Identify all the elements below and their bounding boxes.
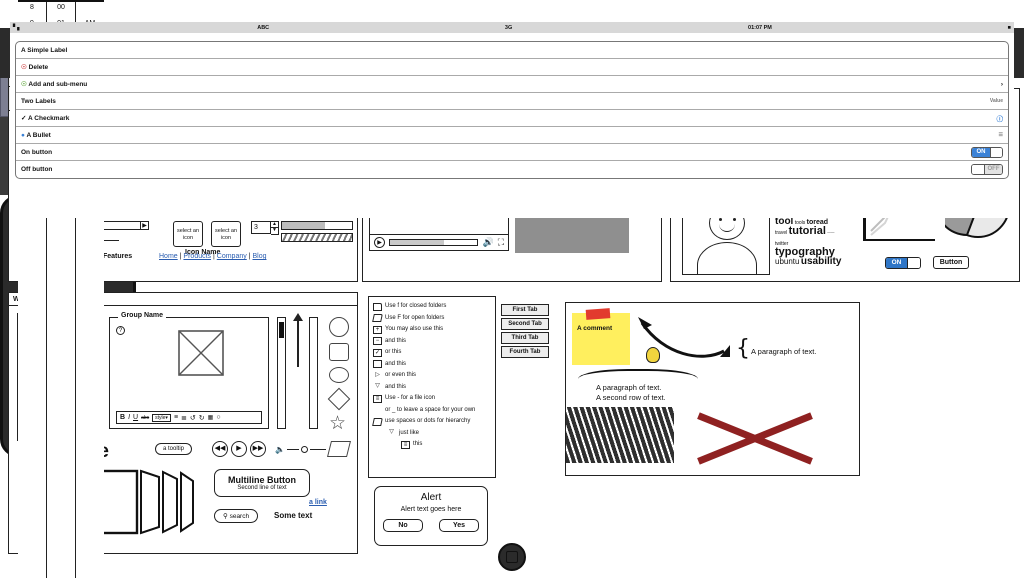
tree-row: ▽just like [373, 428, 491, 440]
number-list-icon[interactable]: ≣ [181, 414, 187, 422]
rounded-square-shape[interactable] [329, 343, 349, 361]
redo-icon[interactable]: ↻ [199, 414, 205, 422]
tooltip: a tooltip [155, 443, 192, 455]
add-circle-icon: ☉ [21, 81, 27, 88]
info-icon[interactable]: ⓘ [997, 113, 1004, 123]
shapes-palette: ☆ [329, 317, 349, 457]
underline-icon[interactable]: U [133, 414, 138, 421]
tree-list: Use f for closed folders Use F for open … [369, 297, 495, 455]
vertical-scrollbar-1[interactable] [277, 317, 286, 429]
checked-box-icon[interactable]: ✓ [373, 349, 382, 357]
parallelogram-shape[interactable] [327, 441, 351, 457]
alert-no-button[interactable]: No [383, 519, 423, 532]
battery-icon: ■ [1008, 25, 1011, 31]
fullscreen-icon[interactable]: ⛶ [498, 237, 504, 248]
folder-open-icon[interactable] [372, 418, 383, 426]
right-brace-icon: { [736, 321, 750, 377]
multiline-button[interactable]: Multiline Button Second line of text [214, 469, 310, 497]
volume-slider[interactable]: 🔈 [275, 445, 326, 454]
tree-row: ▽and this [373, 382, 491, 394]
clock-label: 01:07 PM [748, 25, 772, 31]
folder-closed-icon[interactable] [373, 303, 382, 311]
icon-selector-2[interactable]: select an icon [211, 221, 241, 247]
folder-open-icon[interactable] [372, 314, 383, 322]
tree-row: or _ to leave a space for your own [373, 405, 491, 417]
phone-row-checkmark[interactable]: ✓ A Checkmark ⓘ [16, 110, 1008, 127]
scroll-right-icon[interactable]: ▶ [140, 222, 148, 229]
triangle-down-icon[interactable]: ▽ [387, 429, 396, 437]
word-usability: usability [801, 256, 842, 267]
speaker-icon: 🔈 [275, 445, 285, 454]
navlink-sep: | [213, 253, 215, 260]
brace-right-text: A paragraph of text. [751, 347, 816, 356]
phone-status-bar: ▘▖ ABC 3G 01:07 PM ■ [10, 22, 1014, 33]
play-icon[interactable]: ▶ [231, 441, 247, 457]
tree-row: use spaces or dots for hierarchy [373, 416, 491, 428]
checkmark-icon: ✓ [21, 115, 26, 122]
alert-message: Alert text goes here [375, 506, 487, 513]
media-progress[interactable] [389, 239, 478, 246]
toggle-off[interactable]: OFF [971, 164, 1003, 175]
home-button[interactable] [498, 543, 526, 571]
progress-bar [281, 221, 353, 230]
circle-shape[interactable] [329, 317, 349, 337]
file-icon[interactable]: ≡ [373, 395, 382, 403]
tree-panel: Use f for closed folders Use F for open … [368, 296, 496, 478]
media-buttons: ◀◀ ▶ ▶▶ [212, 441, 266, 457]
tree-row: and this [373, 359, 491, 371]
toggle-on[interactable]: ON [971, 147, 1003, 158]
alert-yes-button[interactable]: Yes [439, 519, 479, 532]
play-icon[interactable]: ▶ [374, 237, 385, 248]
tree-row: ✓or this [373, 347, 491, 359]
scrollbar-thumb[interactable] [279, 322, 284, 338]
tree-row: ▷or even this [373, 370, 491, 382]
tree-row: Use f for closed folders [373, 301, 491, 313]
multiline-button-line2: Second line of text [223, 485, 301, 491]
stepper-value[interactable]: 3 [251, 221, 271, 234]
stepper-down-icon[interactable]: ▼ [271, 228, 279, 235]
empty-box-icon[interactable] [373, 360, 382, 368]
tree-row: ≡Use - for a file icon [373, 393, 491, 405]
tree-row: −and this [373, 336, 491, 348]
scribble-redaction [566, 407, 674, 463]
image-x-placeholder [178, 330, 224, 376]
phone-screen: ▘▖ ABC 3G 01:07 PM ■ A Simple Label ☉ De… [10, 22, 1014, 218]
vertical-scrollbar-2[interactable] [309, 317, 318, 429]
bottom-brace-icon [578, 369, 698, 379]
red-tag [586, 308, 611, 320]
delete-circle-icon: ☉ [21, 64, 27, 71]
sticky-note[interactable]: A comment [572, 313, 630, 365]
alert-title: Alert [375, 492, 487, 503]
strikethrough-icon[interactable]: abc [141, 415, 149, 421]
panel-button[interactable]: Button [933, 256, 969, 269]
media-controls: ▶ 🔊 ⛶ [370, 234, 508, 250]
group-name: Group Name [118, 312, 166, 319]
vertical-tabs: First Tab Second Tab Third Tab Fourth Ta… [501, 304, 549, 360]
toggle-knob[interactable] [907, 258, 920, 268]
word-travel: travel [775, 230, 787, 236]
alert-dialog: Alert Alert text goes here No Yes [374, 486, 488, 546]
phone-row-off-button[interactable]: Off button OFF [16, 161, 1008, 178]
minus-box-icon[interactable]: − [373, 337, 382, 345]
lines-icon[interactable]: ☰ [999, 132, 1003, 138]
toggle-switch[interactable]: ON [885, 257, 921, 269]
chevron-right-icon: › [1001, 81, 1003, 88]
icon-selector-1[interactable]: select an icon [173, 221, 203, 247]
brace-bottom-text: A paragraph of text. A second row of tex… [596, 383, 666, 403]
navlink-home[interactable]: Home [159, 253, 178, 260]
word-ubuntu: ubuntu [775, 257, 799, 266]
footer-nav: Home | Products | Company | Blog [159, 253, 267, 260]
forward-icon[interactable]: ▶▶ [250, 441, 266, 457]
diamond-shape[interactable] [328, 388, 351, 411]
image-icon[interactable]: ▦ [208, 414, 214, 421]
breadcrumb-current: Features [103, 253, 132, 260]
curved-arrow-icon [636, 311, 736, 371]
group-box: Group Name ? B I U abc style▾ ≡ ≣ ↺ ↻ ▦ … [109, 317, 269, 429]
question-mark-circle-icon[interactable]: ? [116, 326, 125, 335]
signal-icon: ▘▖ [13, 25, 21, 31]
phone-row-add-submenu[interactable]: ☉ Add and sub-menu › [16, 76, 1008, 93]
phone-row-simple-label[interactable]: A Simple Label [16, 42, 1008, 59]
phone-row-two-labels[interactable]: Two Labels Value [16, 93, 1008, 110]
ellipse-shape[interactable] [329, 367, 349, 383]
tab-second[interactable]: Second Tab [501, 318, 549, 330]
navlink-products[interactable]: Products [183, 253, 211, 260]
network-label: 3G [505, 25, 512, 31]
some-text-label: Some text [274, 511, 312, 520]
speaker-icon[interactable]: 🔊 [482, 237, 493, 248]
triangle-down-icon[interactable]: ▽ [373, 383, 382, 391]
vertical-slider-track[interactable] [297, 317, 299, 367]
carrier-label: ABC [257, 25, 269, 31]
star-shape[interactable]: ☆ [329, 417, 349, 431]
tab-third[interactable]: Third Tab [501, 332, 549, 344]
tab-first[interactable]: First Tab [501, 304, 549, 316]
bullet-list-icon[interactable]: ≡ [174, 414, 178, 421]
phone-row-bullet[interactable]: ● A Bullet ☰ [16, 127, 1008, 144]
toggle-on-label: ON [886, 258, 907, 268]
rich-text-toolbar[interactable]: B I U abc style▾ ≡ ≣ ↺ ↻ ▦ ○ [116, 411, 262, 424]
red-cross-out [694, 409, 816, 461]
word-tutorial: tutorial [789, 225, 826, 237]
emoji-icon[interactable]: ○ [216, 414, 220, 421]
a-link[interactable]: a link [309, 499, 327, 506]
annotations-panel: A comment { A paragraph of text. A parag… [565, 302, 860, 476]
phone-row-on-button[interactable]: On button ON [16, 144, 1008, 161]
plus-box-icon[interactable]: + [373, 326, 382, 334]
navlink-blog[interactable]: Blog [252, 253, 266, 260]
navlink-sep: | [180, 253, 182, 260]
progress-bar-indeterminate [281, 233, 353, 242]
vertical-slider-knob[interactable] [293, 313, 303, 321]
phone-menu-list: A Simple Label ☉ Delete ☉ Add and sub-me… [15, 41, 1009, 179]
navlink-sep: | [249, 253, 251, 260]
search-icon: ⚲ [223, 513, 228, 520]
rewind-icon[interactable]: ◀◀ [212, 441, 228, 457]
triangle-right-icon[interactable]: ▷ [373, 372, 382, 380]
navlink-company[interactable]: Company [217, 253, 247, 260]
bullet-icon: ● [21, 132, 25, 139]
file-icon[interactable]: ≡ [401, 441, 410, 449]
tree-row: +You may also use this [373, 324, 491, 336]
search-button[interactable]: ⚲ search [214, 509, 258, 523]
multiline-button-line1: Multiline Button [223, 475, 301, 485]
bold-icon[interactable]: B [120, 414, 125, 421]
tree-row: Use F for open folders [373, 313, 491, 325]
phone-row-delete[interactable]: ☉ Delete [16, 59, 1008, 76]
tree-row: ≡this [373, 439, 491, 451]
row-value: Value [990, 98, 1003, 104]
style-dropdown[interactable]: style▾ [152, 414, 171, 422]
number-stepper[interactable]: 3 ▲ ▼ [251, 221, 279, 235]
italic-icon[interactable]: I [128, 414, 130, 421]
undo-icon[interactable]: ↺ [190, 414, 196, 422]
tab-fourth[interactable]: Fourth Tab [501, 346, 549, 358]
